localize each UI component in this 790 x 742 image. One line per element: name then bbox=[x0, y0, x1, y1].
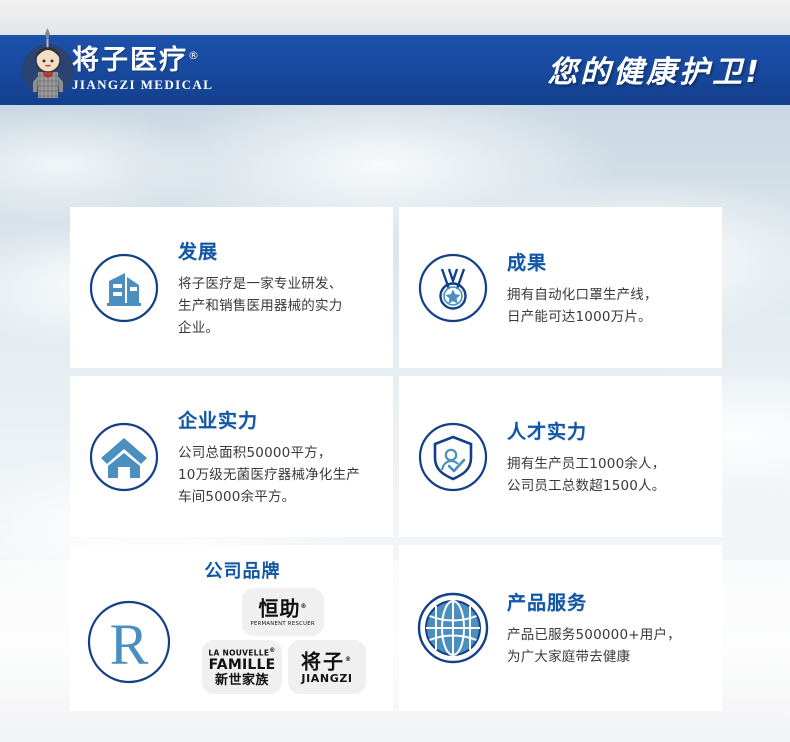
hengzhu-logo[interactable]: 恒助® PERMANENT RESCUER bbox=[242, 588, 324, 636]
building-icon bbox=[87, 251, 161, 325]
svg-text:R: R bbox=[110, 612, 149, 677]
card-icon-wrap bbox=[70, 251, 178, 325]
card-text-line: 拥有生产员工1000余人， bbox=[507, 453, 665, 475]
card-icon-wrap bbox=[399, 589, 507, 667]
card-icon-wrap bbox=[70, 420, 178, 494]
brand-logo-list: 恒助® PERMANENT RESCUER LA NOUVELLE® FAMIL… bbox=[188, 586, 393, 698]
card-text-line: 为广大家庭带去健康 bbox=[507, 646, 681, 668]
jiangzi-logo-en: JIANGZI bbox=[301, 672, 352, 685]
house-icon bbox=[87, 420, 161, 494]
card-icon-wrap bbox=[399, 251, 507, 325]
registered-mark: ® bbox=[345, 656, 353, 663]
feature-card-grid: 发展 将子医疗是一家专业研发、 生产和销售医用器械的实力 企业。 bbox=[70, 207, 722, 703]
card-body: 产品服务 产品已服务500000+用户， 为广大家庭带去健康 bbox=[507, 588, 695, 668]
card-text-line: 车间5000余平方。 bbox=[178, 486, 360, 508]
shield-person-icon bbox=[416, 420, 490, 494]
jiangzi-logo[interactable]: 将子® JIANGZI bbox=[288, 640, 366, 694]
hengzhu-logo-en: PERMANENT RESCUER bbox=[251, 621, 315, 627]
registered-r-icon: R bbox=[83, 596, 175, 688]
famille-logo-line3: 新世家族 bbox=[215, 673, 269, 688]
brand-name-block: 将子医疗® JIANGZI MEDICAL bbox=[72, 41, 213, 99]
card-text-line: 10万级无菌医疗器械净化生产 bbox=[178, 464, 360, 486]
card-company-brands[interactable]: 公司品牌 R 恒助® PERMANENT RESCUER LA NOUVELLE… bbox=[70, 545, 393, 711]
card-text-line: 日产能可达1000万片。 bbox=[507, 306, 658, 328]
card-icon-wrap: R bbox=[70, 596, 188, 688]
card-text-line: 企业。 bbox=[178, 317, 342, 339]
top-gray-strip bbox=[0, 0, 790, 35]
card-talent-strength[interactable]: 人才实力 拥有生产员工1000余人， 公司员工总数超1500人。 bbox=[399, 376, 722, 537]
card-title: 公司品牌 bbox=[70, 557, 393, 583]
card-text: 公司总面积50000平方， 10万级无菌医疗器械净化生产 车间5000余平方。 bbox=[178, 442, 360, 508]
card-text-line: 产品已服务500000+用户， bbox=[507, 624, 681, 646]
card-title: 成果 bbox=[507, 248, 658, 275]
site-header: 将子医疗® JIANGZI MEDICAL 您的健康护卫! bbox=[0, 35, 790, 105]
card-text-line: 生产和销售医用器械的实力 bbox=[178, 295, 342, 317]
registered-mark: ® bbox=[188, 49, 201, 62]
card-text: 拥有自动化口罩生产线， 日产能可达1000万片。 bbox=[507, 284, 658, 328]
card-text: 拥有生产员工1000余人， 公司员工总数超1500人。 bbox=[507, 453, 665, 497]
card-body: 发展 将子医疗是一家专业研发、 生产和销售医用器械的实力 企业。 bbox=[178, 237, 356, 339]
card-body: 人才实力 拥有生产员工1000余人， 公司员工总数超1500人。 bbox=[507, 417, 679, 497]
brand-logo[interactable] bbox=[16, 26, 80, 110]
card-text-line: 公司总面积50000平方， bbox=[178, 442, 360, 464]
jiangzi-logo-cn: 将子® bbox=[301, 649, 353, 673]
header-slogan: 您的健康护卫! bbox=[547, 47, 762, 91]
registered-mark: ® bbox=[269, 647, 275, 654]
mascot-general-logo bbox=[16, 26, 80, 110]
card-body: 企业实力 公司总面积50000平方， 10万级无菌医疗器械净化生产 车间5000… bbox=[178, 406, 374, 508]
card-text-line: 将子医疗是一家专业研发、 bbox=[178, 273, 342, 295]
card-icon-wrap bbox=[399, 420, 507, 494]
card-text-line: 拥有自动化口罩生产线， bbox=[507, 284, 658, 306]
globe-icon bbox=[414, 589, 492, 667]
registered-mark: ® bbox=[301, 603, 308, 610]
brand-name-cn: 将子医疗® bbox=[72, 41, 213, 76]
famille-logo[interactable]: LA NOUVELLE® FAMILLE 新世家族 bbox=[202, 640, 282, 694]
brand-row: R 恒助® PERMANENT RESCUER LA NOUVELLE® FAM… bbox=[70, 583, 393, 701]
card-text: 产品已服务500000+用户， 为广大家庭带去健康 bbox=[507, 624, 681, 668]
card-development[interactable]: 发展 将子医疗是一家专业研发、 生产和销售医用器械的实力 企业。 bbox=[70, 207, 393, 368]
card-title: 企业实力 bbox=[178, 406, 360, 433]
card-product-service[interactable]: 产品服务 产品已服务500000+用户， 为广大家庭带去健康 bbox=[399, 545, 722, 711]
card-text: 将子医疗是一家专业研发、 生产和销售医用器械的实力 企业。 bbox=[178, 273, 342, 339]
famille-logo-line2: FAMILLE bbox=[209, 658, 276, 673]
card-title: 人才实力 bbox=[507, 417, 665, 444]
card-text-line: 公司员工总数超1500人。 bbox=[507, 475, 665, 497]
medal-icon bbox=[416, 251, 490, 325]
card-title: 产品服务 bbox=[507, 588, 681, 615]
card-company-strength[interactable]: 企业实力 公司总面积50000平方， 10万级无菌医疗器械净化生产 车间5000… bbox=[70, 376, 393, 537]
card-achievements[interactable]: 成果 拥有自动化口罩生产线， 日产能可达1000万片。 bbox=[399, 207, 722, 368]
hengzhu-logo-cn: 恒助® bbox=[259, 597, 308, 619]
card-title: 发展 bbox=[178, 237, 342, 264]
card-body: 成果 拥有自动化口罩生产线， 日产能可达1000万片。 bbox=[507, 248, 672, 328]
brand-name-en: JIANGZI MEDICAL bbox=[72, 77, 213, 93]
promo-page: 将子医疗® JIANGZI MEDICAL 您的健康护卫! bbox=[0, 0, 790, 742]
